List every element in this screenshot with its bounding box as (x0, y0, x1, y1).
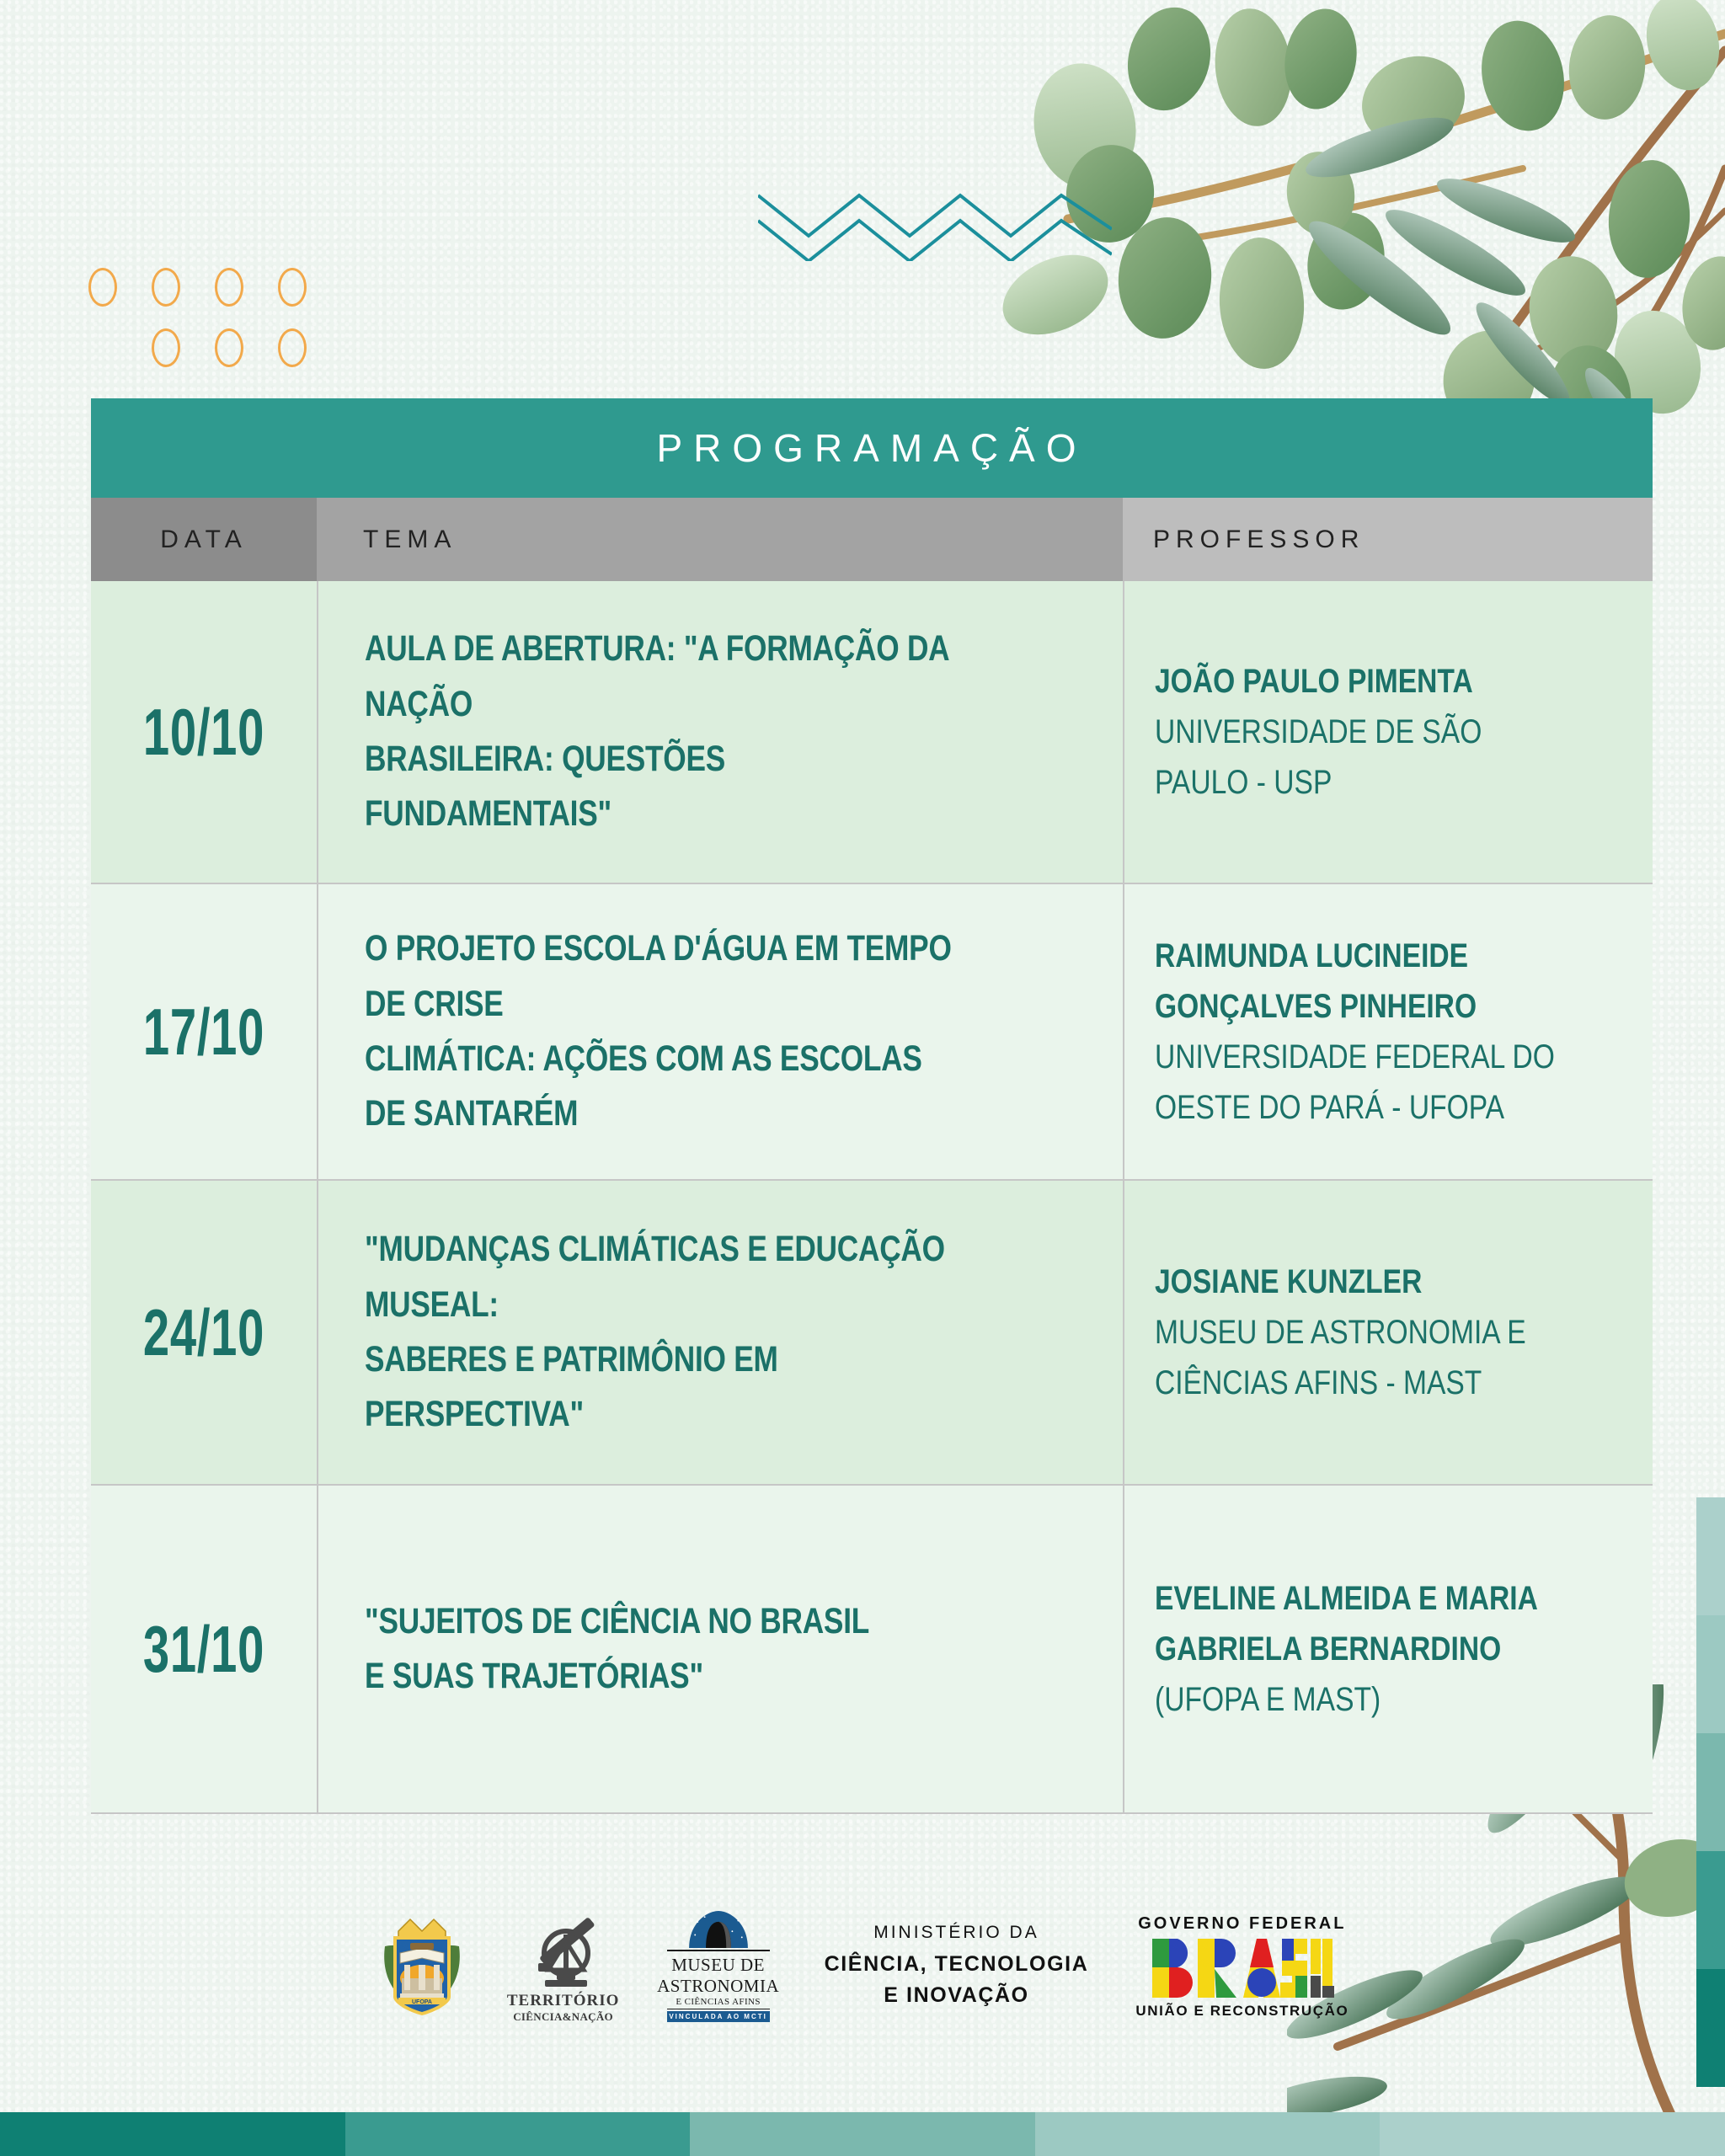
territorio-label-line2: CIÊNCIA&NAÇÃO (513, 2010, 613, 2024)
row-tema: "MUDANÇAS CLIMÁTICAS E EDUCAÇÃO MUSEAL: … (318, 1181, 1123, 1484)
column-header-professor: PROFESSOR (1123, 498, 1653, 581)
dot-circle (152, 268, 180, 307)
professor-name: GABRIELA BERNARDINO (1155, 1624, 1538, 1674)
dot-circle (152, 328, 180, 367)
tema-line: BRASILEIRA: QUESTÕES FUNDAMENTAIS" (365, 732, 959, 842)
professor-name: JOÃO PAULO PIMENTA (1155, 656, 1556, 707)
ufopa-crest-icon: UFOPA (377, 1913, 467, 2020)
tema-line: O PROJETO ESCOLA D'ÁGUA EM TEMPO DE CRIS… (365, 921, 959, 1032)
row-tema: AULA DE ABERTURA: "A FORMAÇÃO DA NAÇÃO B… (318, 581, 1123, 883)
row-date: 10/10 (123, 581, 286, 883)
territorio-label-line1: TERRITÓRIO (507, 1992, 620, 2010)
dot-circle (215, 268, 243, 307)
row-professor: EVELINE ALMEIDA E MARIA GABRIELA BERNARD… (1124, 1486, 1653, 1812)
tema-line: AULA DE ABERTURA: "A FORMAÇÃO DA NAÇÃO (365, 622, 959, 732)
row-date: 17/10 (123, 884, 286, 1179)
tema-line: CLIMÁTICA: AÇÕES COM AS ESCOLAS DE SANTA… (365, 1032, 959, 1142)
table-header-row: DATA TEMA PROFESSOR (91, 498, 1653, 581)
table-row: 10/10 AULA DE ABERTURA: "A FORMAÇÃO DA N… (91, 581, 1653, 884)
professor-affiliation: MUSEU DE ASTRONOMIA E (1155, 1307, 1526, 1358)
telescope-icon (520, 1909, 607, 1992)
row-date: 31/10 (123, 1486, 286, 1812)
strip-block (1380, 2112, 1725, 2156)
column-header-tema: TEMA (317, 498, 1123, 581)
strip-block (1035, 2112, 1381, 2156)
mast-mcti-bar: VINCULADA AO MCTI (667, 2011, 770, 2022)
dot-circle (88, 268, 117, 307)
dot-circle (278, 328, 307, 367)
professor-name: EVELINE ALMEIDA E MARIA (1155, 1573, 1538, 1624)
mcti-line2: CIÊNCIA, TECNOLOGIA (825, 1949, 1089, 1979)
logo-mcti: MINISTÉRIO DA CIÊNCIA, TECNOLOGIA E INOV… (825, 1923, 1089, 2010)
strip-block (345, 2112, 691, 2156)
tema-line: SABERES E PATRIMÔNIO EM PERSPECTIVA" (365, 1332, 959, 1443)
table-row: 17/10 O PROJETO ESCOLA D'ÁGUA EM TEMPO D… (91, 884, 1653, 1181)
divider (667, 2009, 770, 2009)
strip-block (690, 2112, 1035, 2156)
footer-logos: UFOPA TERRITÓRIO CIÊNCIA&NAÇÃO (0, 1886, 1725, 2047)
schedule-table: PROGRAMAÇÃO DATA TEMA PROFESSOR 10/10 AU… (91, 398, 1653, 1814)
tema-line: E SUAS TRAJETÓRIAS" (365, 1649, 869, 1704)
strip-block (0, 2112, 345, 2156)
tema-line: "MUDANÇAS CLIMÁTICAS E EDUCAÇÃO MUSEAL: (365, 1222, 959, 1332)
row-date: 24/10 (123, 1181, 286, 1484)
professor-name: JOSIANE KUNZLER (1155, 1257, 1526, 1307)
table-row: 31/10 "SUJEITOS DE CIÊNCIA NO BRASIL E S… (91, 1486, 1653, 1814)
logo-governo-federal: GOVERNO FEDERAL (1135, 1914, 1348, 2020)
logo-territorio: TERRITÓRIO CIÊNCIA&NAÇÃO (515, 1909, 612, 2024)
dot-circle (278, 268, 307, 307)
decorative-dots-group (88, 268, 341, 386)
row-professor: JOÃO PAULO PIMENTA UNIVERSIDADE DE SÃO P… (1124, 581, 1653, 883)
bottom-color-strip (0, 2112, 1725, 2156)
strip-block (1696, 1615, 1725, 1733)
professor-name: GONÇALVES PINHEIRO (1155, 981, 1555, 1032)
row-professor: RAIMUNDA LUCINEIDE GONÇALVES PINHEIRO UN… (1124, 884, 1653, 1179)
tema-line: "SUJEITOS DE CIÊNCIA NO BRASIL (365, 1594, 869, 1649)
professor-affiliation: UNIVERSIDADE DE SÃO PAULO - USP (1155, 707, 1556, 808)
programacao-banner: PROGRAMAÇÃO (91, 398, 1653, 498)
strip-block (1696, 1733, 1725, 1851)
professor-affiliation: CIÊNCIAS AFINS - MAST (1155, 1358, 1526, 1408)
mcti-line3: E INOVAÇÃO (884, 1980, 1029, 2010)
svg-text:UFOPA: UFOPA (412, 1999, 432, 2005)
mast-label-line1: MUSEU DE (671, 1955, 765, 1976)
professor-affiliation: OESTE DO PARÁ - UFOPA (1155, 1082, 1555, 1133)
strip-block (1696, 1497, 1725, 1615)
row-professor: JOSIANE KUNZLER MUSEU DE ASTRONOMIA E CI… (1124, 1181, 1653, 1484)
governo-bottom-label: UNIÃO E RECONSTRUÇÃO (1135, 2003, 1348, 2020)
divider (667, 1950, 770, 1951)
column-header-data: DATA (91, 498, 317, 581)
governo-top-label: GOVERNO FEDERAL (1138, 1914, 1346, 1934)
mcti-line1: MINISTÉRIO DA (873, 1923, 1039, 1943)
mast-label-line3: E CIÊNCIAS AFINS (676, 1997, 761, 2007)
zigzag-decoration (758, 177, 1112, 261)
row-tema: "SUJEITOS DE CIÊNCIA NO BRASIL E SUAS TR… (318, 1486, 1123, 1812)
professor-affiliation: UNIVERSIDADE FEDERAL DO (1155, 1032, 1555, 1082)
professor-name: RAIMUNDA LUCINEIDE (1155, 931, 1555, 981)
mast-label-line2: ASTRONOMIA (657, 1976, 779, 1997)
table-row: 24/10 "MUDANÇAS CLIMÁTICAS E EDUCAÇÃO MU… (91, 1181, 1653, 1486)
poster-canvas: PROGRAMAÇÃO DATA TEMA PROFESSOR 10/10 AU… (0, 0, 1725, 2156)
logo-mast: MUSEU DE ASTRONOMIA E CIÊNCIAS AFINS VIN… (660, 1911, 777, 2022)
dot-circle (215, 328, 243, 367)
row-tema: O PROJETO ESCOLA D'ÁGUA EM TEMPO DE CRIS… (318, 884, 1123, 1179)
brasil-wordmark-icon (1151, 1937, 1334, 1999)
observatory-dome-icon (669, 1911, 768, 1948)
professor-affiliation: (UFOPA E MAST) (1155, 1674, 1538, 1725)
logo-ufopa: UFOPA (377, 1913, 467, 2020)
